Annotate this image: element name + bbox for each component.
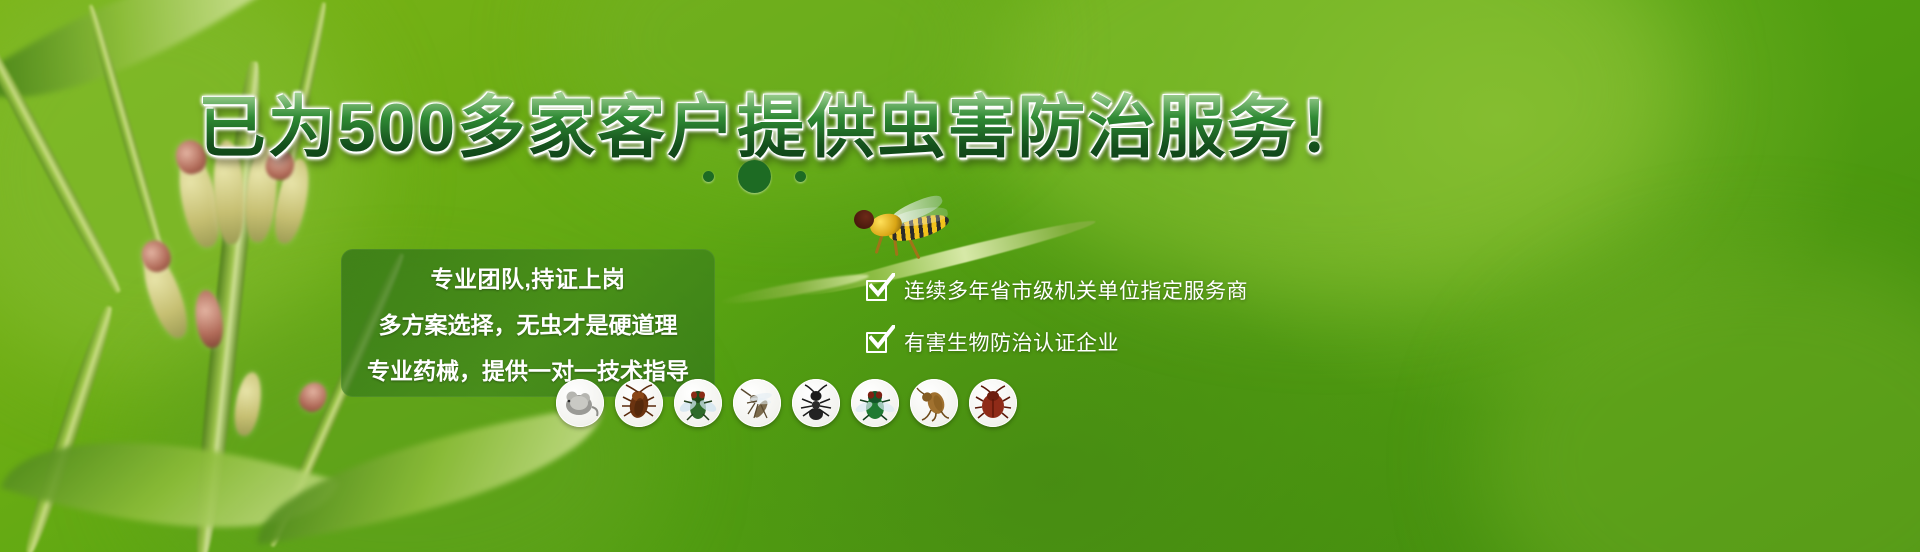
hoverfly-insect [848, 196, 958, 258]
seed-bud-tip [294, 378, 332, 417]
dot-small-icon [795, 171, 806, 182]
feature-line-2: 多方案选择，无虫才是硬道理 [379, 306, 678, 340]
credential-bullet: 连续多年省市级机关单位指定服务商 [866, 275, 1248, 305]
credential-bullet-label: 有害生物防治认证企业 [904, 327, 1119, 357]
leaf-shape [1, 383, 339, 552]
seed-bud [136, 248, 195, 343]
bedbug-icon[interactable] [969, 379, 1017, 427]
dot-small-icon [703, 171, 714, 182]
ant-icon[interactable] [792, 379, 840, 427]
stalk-shape [20, 304, 117, 552]
credential-bullet-list: 连续多年省市级机关单位指定服务商 有害生物防治认证企业 [866, 275, 1248, 357]
insect-head [854, 210, 874, 229]
checkbox-checked-icon [866, 330, 890, 354]
page-title: 已为500多家客户提供虫害防治服务！ [0, 72, 1565, 171]
decorative-dots [703, 160, 806, 193]
mouse-icon[interactable] [556, 379, 604, 427]
feature-panel-text: 专业团队,持证上岗 多方案选择，无虫才是硬道理 专业药械，提供一对一技术指导 [341, 249, 715, 397]
seed-bud-tip [192, 288, 226, 349]
blowfly-icon[interactable] [851, 379, 899, 427]
checkbox-checked-icon [866, 278, 890, 302]
feature-line-1: 专业团队,持证上岗 [431, 260, 626, 294]
cockroach-icon[interactable] [615, 379, 663, 427]
background-blur-blob [1480, 250, 1920, 552]
background-blur-blob [0, 0, 360, 380]
seed-bud [231, 371, 265, 438]
pest-icon-row [556, 379, 1017, 427]
dot-large-icon [738, 160, 771, 193]
flea-icon[interactable] [910, 379, 958, 427]
credential-bullet-label: 连续多年省市级机关单位指定服务商 [904, 275, 1248, 305]
pest-control-hero-banner: 已为500多家客户提供虫害防治服务！ 已为500多家客户提供虫害防治服务！ 专业… [0, 0, 1920, 552]
housefly-icon[interactable] [674, 379, 722, 427]
mosquito-icon[interactable] [733, 379, 781, 427]
credential-bullet: 有害生物防治认证企业 [866, 327, 1248, 357]
seed-bud-tip [137, 236, 176, 277]
